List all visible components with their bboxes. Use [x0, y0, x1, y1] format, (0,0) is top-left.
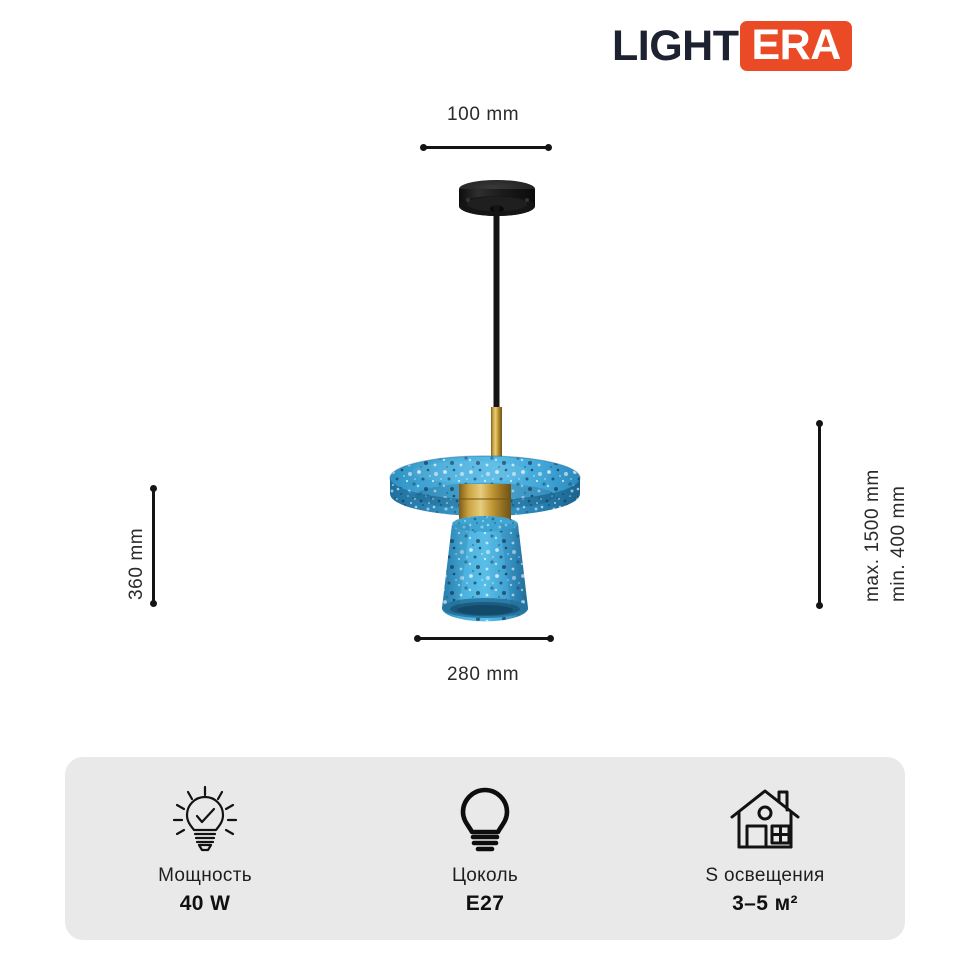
spec-value-lighting-area: 3–5 м² [732, 892, 798, 916]
spec-panel: Мощность 40 W Цоколь E27 [65, 757, 905, 940]
hanging-cord [494, 206, 500, 409]
spec-title-power: Мощность [158, 865, 252, 887]
terrazzo-cone-shade [438, 516, 534, 622]
product-illustration [0, 0, 970, 720]
spec-value-power: 40 W [180, 892, 231, 916]
spec-title-lighting-area: S освещения [705, 865, 824, 887]
bulb-icon [448, 781, 522, 857]
spec-item-lighting-area: S освещения 3–5 м² [625, 781, 905, 916]
bulb-check-rays-icon [168, 781, 242, 857]
spec-sheet-page: LIGHT ERA 100 mm 280 mm 360 mm max. 1500… [0, 0, 970, 970]
spec-value-socket: E27 [466, 892, 505, 916]
spec-item-socket: Цоколь E27 [345, 781, 625, 916]
house-icon [726, 781, 804, 857]
spec-title-socket: Цоколь [452, 865, 518, 887]
spec-item-power: Мощность 40 W [65, 781, 345, 916]
